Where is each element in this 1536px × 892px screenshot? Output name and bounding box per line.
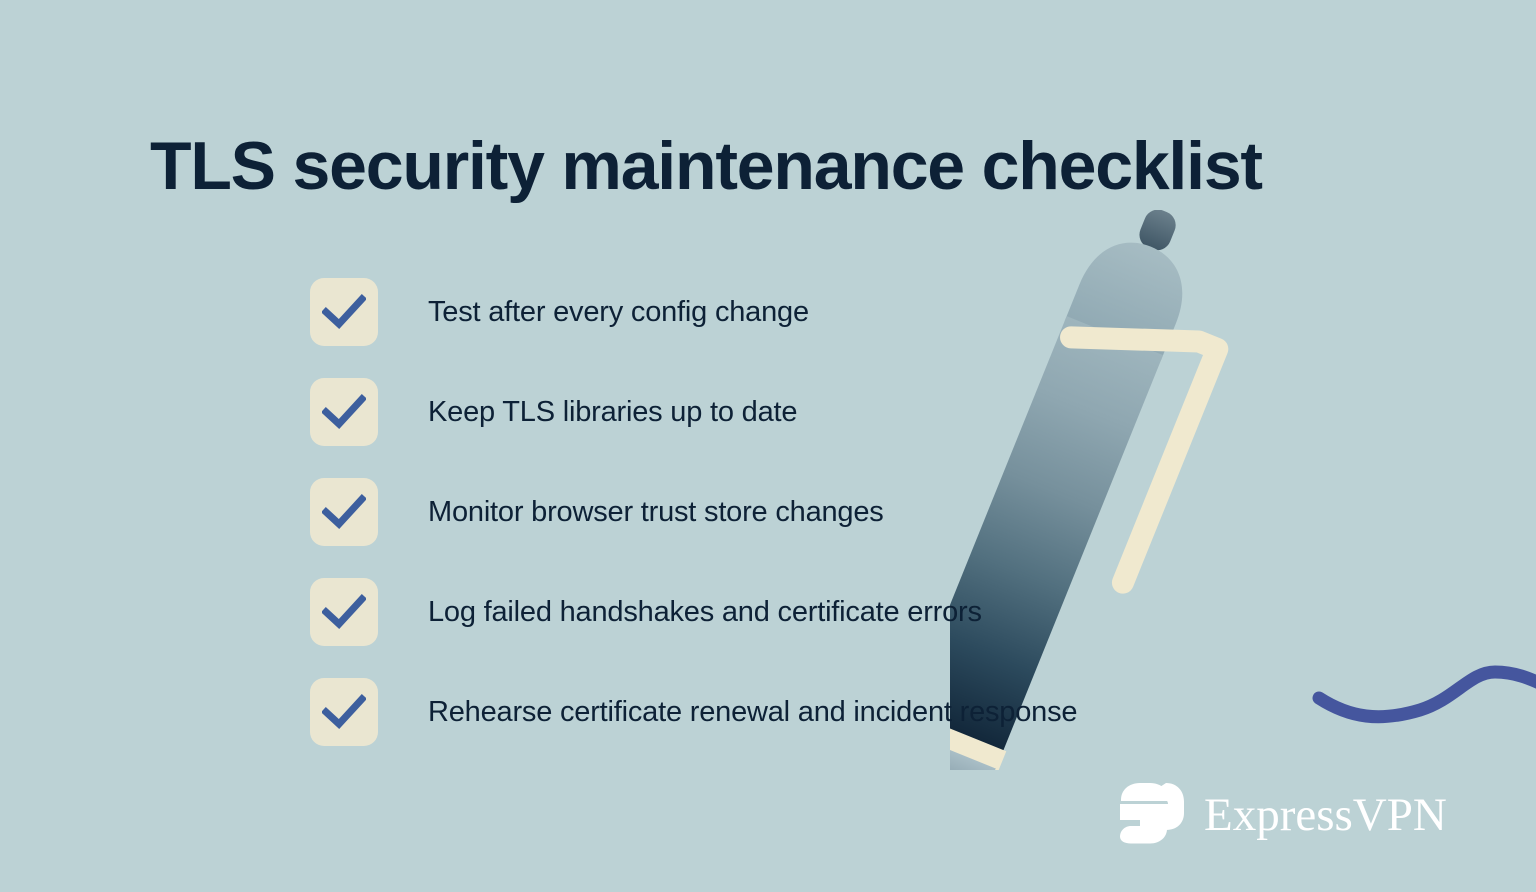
poster-canvas: TLS security maintenance checklist [0, 0, 1536, 892]
checklist-item[interactable]: Test after every config change [310, 278, 1260, 346]
checklist-item-label: Keep TLS libraries up to date [428, 396, 797, 429]
check-icon [322, 594, 366, 630]
checkbox-checked[interactable] [310, 678, 378, 746]
checklist-item-label: Log failed handshakes and certificate er… [428, 596, 982, 629]
checklist-item-label: Monitor browser trust store changes [428, 496, 884, 529]
checklist-item[interactable]: Rehearse certificate renewal and inciden… [310, 678, 1260, 746]
checkbox-checked[interactable] [310, 278, 378, 346]
ink-line [1319, 672, 1536, 717]
checklist-item[interactable]: Log failed handshakes and certificate er… [310, 578, 1260, 646]
check-icon [322, 694, 366, 730]
expressvpn-wordmark: ExpressVPN [1204, 792, 1447, 839]
checklist-item[interactable]: Keep TLS libraries up to date [310, 378, 1260, 446]
checkbox-checked[interactable] [310, 378, 378, 446]
checklist-item-label: Rehearse certificate renewal and inciden… [428, 696, 1077, 729]
pen-button [1135, 210, 1180, 254]
checklist-item-label: Test after every config change [428, 296, 809, 329]
checklist: Test after every config change Keep TLS … [310, 278, 1260, 746]
check-icon [322, 494, 366, 530]
checkbox-checked[interactable] [310, 578, 378, 646]
checkbox-checked[interactable] [310, 478, 378, 546]
checklist-item[interactable]: Monitor browser trust store changes [310, 478, 1260, 546]
page-title: TLS security maintenance checklist [150, 132, 1430, 200]
check-icon [322, 394, 366, 430]
check-icon [322, 294, 366, 330]
expressvpn-logo: ExpressVPN [1120, 782, 1447, 849]
expressvpn-logo-icon [1120, 782, 1186, 849]
